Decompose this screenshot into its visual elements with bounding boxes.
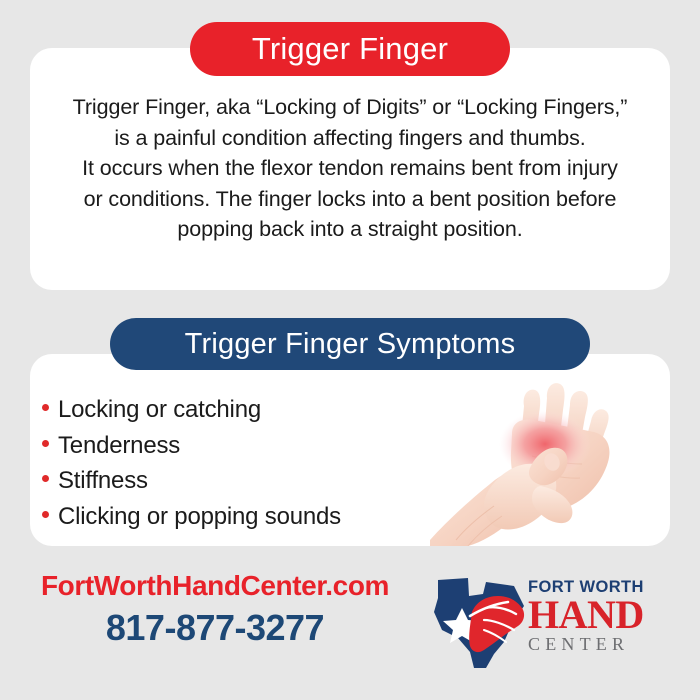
symptom-label: Stiffness <box>58 463 148 499</box>
list-item: Stiffness <box>42 463 402 499</box>
symptom-label: Clicking or popping sounds <box>58 499 341 535</box>
phone-number[interactable]: 817-877-3277 <box>20 606 410 650</box>
description-line: It occurs when the flexor tendon remains… <box>40 153 660 184</box>
hand-pain-photo <box>412 372 642 546</box>
list-item: Clicking or popping sounds <box>42 499 402 535</box>
title-pill-symptoms: Trigger Finger Symptoms <box>110 318 590 370</box>
symptom-label: Tenderness <box>58 428 180 464</box>
logo-line-center: CENTER <box>528 634 680 654</box>
symptom-label: Locking or catching <box>58 392 261 428</box>
bullet-dot-icon <box>42 440 49 447</box>
bullet-dot-icon <box>42 511 49 518</box>
description-line: is a painful condition affecting fingers… <box>40 123 660 154</box>
description-line: Trigger Finger, aka “Locking of Digits” … <box>40 92 660 123</box>
footer-contact: FortWorthHandCenter.com 817-877-3277 <box>20 568 410 650</box>
list-item: Locking or catching <box>42 392 402 428</box>
website-url[interactable]: FortWorthHandCenter.com <box>20 568 410 604</box>
bullet-dot-icon <box>42 404 49 411</box>
symptom-list: Locking or catching Tenderness Stiffness… <box>42 392 402 534</box>
title-pill-trigger-finger: Trigger Finger <box>190 22 510 76</box>
description-line: popping back into a straight position. <box>40 214 660 245</box>
infographic-root: Trigger Finger Trigger Finger, aka “Lock… <box>0 0 700 700</box>
description-line: or conditions. The finger locks into a b… <box>40 184 660 215</box>
logo-line-hand: HAND <box>528 596 680 634</box>
texas-outline-with-hand-and-star-icon <box>428 568 532 670</box>
description-paragraph: Trigger Finger, aka “Locking of Digits” … <box>40 92 660 245</box>
logo-wordmark: FORT WORTH HAND CENTER <box>528 578 680 654</box>
list-item: Tenderness <box>42 428 402 464</box>
fort-worth-hand-center-logo: FORT WORTH HAND CENTER <box>428 566 678 672</box>
bullet-dot-icon <box>42 475 49 482</box>
